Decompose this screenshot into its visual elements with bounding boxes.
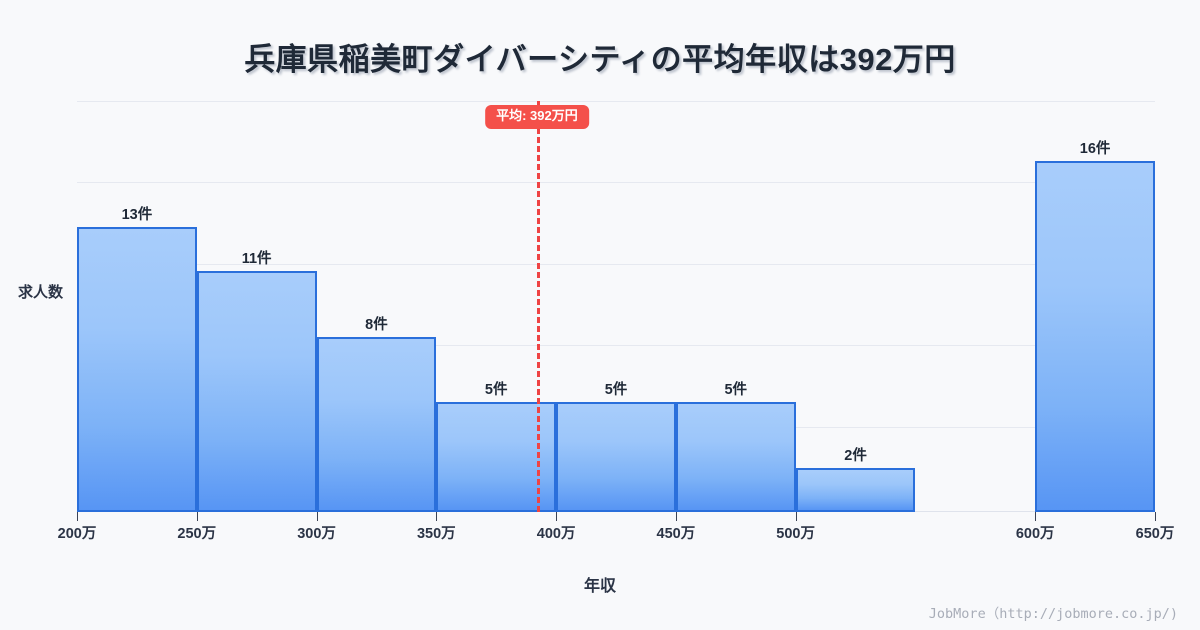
bar-value-label: 16件 — [1035, 137, 1155, 158]
x-tick-label: 250万 — [177, 522, 216, 543]
bar-value-label: 2件 — [796, 444, 916, 465]
bar — [676, 402, 796, 512]
x-tick-mark — [77, 512, 78, 521]
x-axis-title: 年収 — [0, 572, 1200, 596]
bar — [77, 227, 197, 512]
average-badge: 平均: 392万円 — [485, 105, 589, 129]
x-tick-label: 200万 — [58, 522, 97, 543]
chart-root: 兵庫県稲美町ダイバーシティの平均年収は392万円 13件11件8件5件5件5件2… — [0, 0, 1200, 630]
bar — [556, 402, 676, 512]
gridline — [77, 101, 1155, 102]
x-tick-mark — [1155, 512, 1156, 521]
bar-value-label: 8件 — [317, 313, 437, 334]
bar-value-label: 5件 — [676, 378, 796, 399]
x-tick-label: 300万 — [297, 522, 336, 543]
x-tick-mark — [197, 512, 198, 521]
x-tick-mark — [1035, 512, 1036, 521]
x-tick-label: 650万 — [1136, 522, 1175, 543]
page-title: 兵庫県稲美町ダイバーシティの平均年収は392万円 — [0, 34, 1200, 79]
bar — [796, 468, 916, 512]
x-tick-label: 350万 — [417, 522, 456, 543]
bar — [1035, 161, 1155, 512]
bar-value-label: 13件 — [77, 203, 197, 224]
x-tick-label: 450万 — [657, 522, 696, 543]
y-axis-title: 求人数 — [18, 281, 63, 302]
bar — [197, 271, 317, 512]
footer-credit: JobMore（http://jobmore.co.jp/) — [929, 602, 1178, 622]
average-vline — [537, 101, 540, 512]
x-tick-label: 500万 — [776, 522, 815, 543]
x-tick-mark — [796, 512, 797, 521]
bar-value-label: 5件 — [436, 378, 556, 399]
x-tick-mark — [436, 512, 437, 521]
bar-value-label: 5件 — [556, 378, 676, 399]
x-tick-mark — [676, 512, 677, 521]
bar-value-label: 11件 — [197, 247, 317, 268]
x-tick-mark — [556, 512, 557, 521]
x-tick-label: 600万 — [1016, 522, 1055, 543]
plot-area — [77, 101, 1155, 512]
x-tick-mark — [317, 512, 318, 521]
gridline — [77, 182, 1155, 183]
bar — [317, 337, 437, 512]
x-tick-label: 400万 — [537, 522, 576, 543]
